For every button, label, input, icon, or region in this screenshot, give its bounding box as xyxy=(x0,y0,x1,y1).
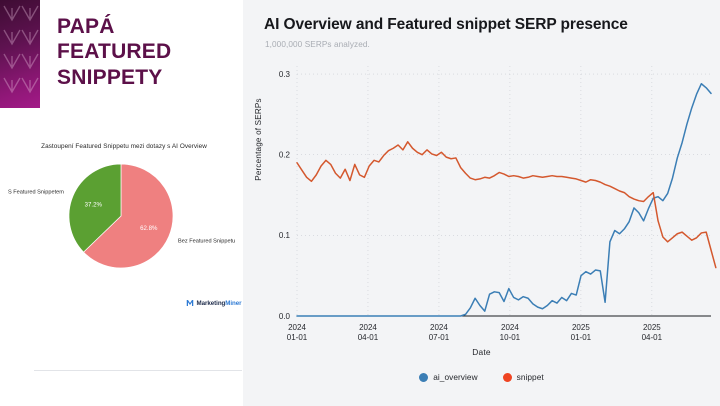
slide-root: PAPÁ FEATURED SNIPPETY Zastoupení Featur… xyxy=(0,0,720,406)
x-tick-label: 2025 xyxy=(643,323,661,332)
pie-chart: 62.8%Bez Featured Snippetu37.2%S Feature… xyxy=(0,150,243,300)
brand-pattern-decoration xyxy=(0,0,40,108)
legend-marker-icon xyxy=(503,373,512,382)
x-tick-label: 2024 xyxy=(501,323,519,332)
y-tick-label: 0.2 xyxy=(279,151,291,160)
brand-title-line-1: PAPÁ xyxy=(57,14,237,39)
pie-slice-label: Bez Featured Snippetu xyxy=(178,238,235,244)
brand-title-line-2: FEATURED xyxy=(57,39,237,64)
m-mark-icon xyxy=(186,299,194,307)
x-tick-label: 2024 xyxy=(430,323,448,332)
legend-item-snippet[interactable]: snippet xyxy=(503,372,544,382)
logo-word-marketing: Marketing xyxy=(197,300,226,307)
right-panel: AI Overview and Featured snippet SERP pr… xyxy=(243,0,720,406)
x-tick-label: 2025 xyxy=(572,323,590,332)
x-tick-label: 04-01 xyxy=(358,333,379,342)
logo-word-miner: Miner xyxy=(225,300,241,307)
chart-title: AI Overview and Featured snippet SERP pr… xyxy=(264,16,628,34)
legend-item-ai_overview[interactable]: ai_overview xyxy=(419,372,477,382)
x-tick-label: 01-01 xyxy=(287,333,308,342)
marketing-miner-logo: MarketingMiner xyxy=(186,299,242,307)
legend-label: ai_overview xyxy=(433,372,477,382)
chart-subtitle: 1,000,000 SERPs analyzed. xyxy=(265,40,370,49)
x-tick-label: 07-01 xyxy=(429,333,450,342)
y-tick-label: 0.3 xyxy=(279,70,291,79)
x-tick-label: 10-01 xyxy=(500,333,521,342)
marketing-miner-wordmark: MarketingMiner xyxy=(197,300,242,307)
pie-chart-title: Zastoupení Featured Snippetu mezi dotazy… xyxy=(14,143,234,150)
y-axis-label: Percentage of SERPs xyxy=(254,98,263,181)
y-tick-label: 0.1 xyxy=(279,231,291,240)
x-axis-label: Date xyxy=(243,347,720,357)
legend-label: snippet xyxy=(517,372,544,382)
left-panel: PAPÁ FEATURED SNIPPETY Zastoupení Featur… xyxy=(0,0,243,406)
pie-slice-value: 62.8% xyxy=(140,225,158,232)
line-chart-plot: 0.00.10.20.3202401-01202404-01202407-012… xyxy=(243,54,720,344)
chart-legend: ai_overviewsnippet xyxy=(243,372,720,382)
series-line-ai_overview xyxy=(297,84,711,316)
pie-slice-label: S Featured Snippetem xyxy=(8,190,64,196)
brand-title: PAPÁ FEATURED SNIPPETY xyxy=(57,14,237,90)
x-tick-label: 04-01 xyxy=(642,333,663,342)
series-line-snippet xyxy=(297,142,716,268)
brand-title-line-3: SNIPPETY xyxy=(57,65,237,90)
left-panel-divider xyxy=(34,370,242,371)
legend-marker-icon xyxy=(419,373,428,382)
pie-slice-value: 37.2% xyxy=(85,201,103,208)
x-tick-label: 01-01 xyxy=(571,333,592,342)
x-tick-label: 2024 xyxy=(288,323,306,332)
x-tick-label: 2024 xyxy=(359,323,377,332)
y-tick-label: 0.0 xyxy=(279,312,291,321)
brand-block: PAPÁ FEATURED SNIPPETY xyxy=(0,0,243,112)
